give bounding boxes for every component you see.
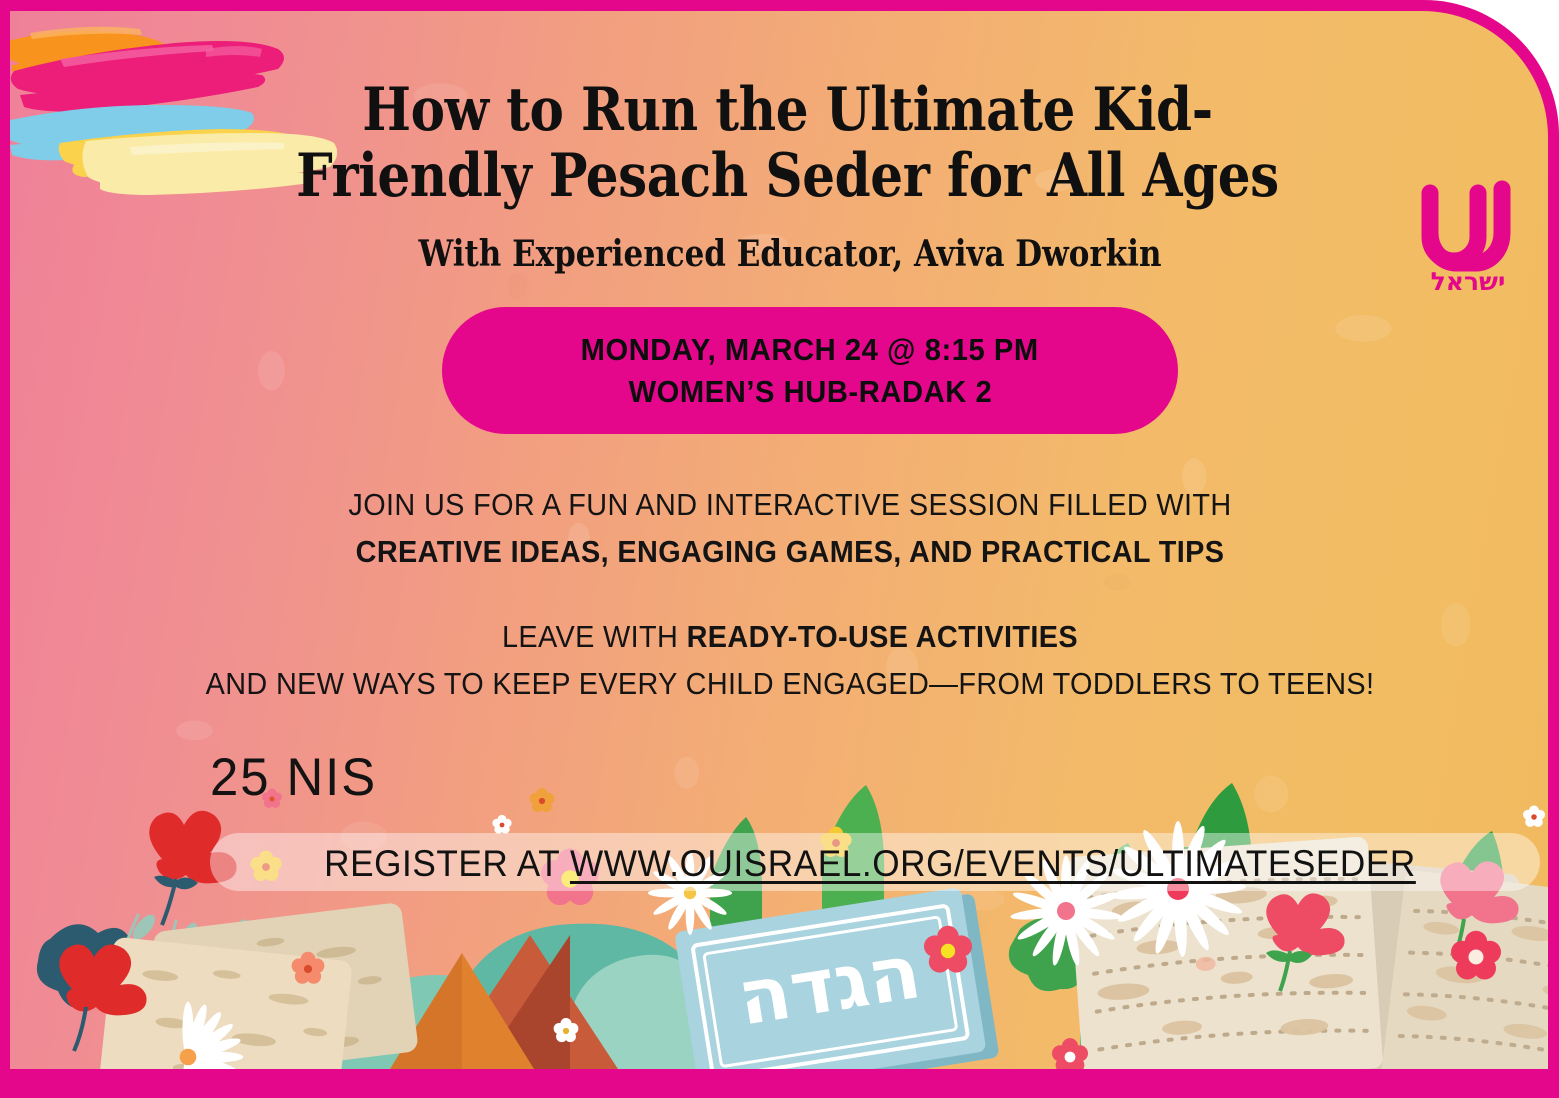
body-line-3: LEAVE WITH READY-TO-USE ACTIVITIES: [102, 613, 1478, 660]
register-url[interactable]: WWW.OUISRAEL.ORG/EVENTS/ULTIMATESEDER: [570, 843, 1416, 884]
body-spacer: [50, 575, 1530, 613]
flyer-body-copy: JOIN US FOR A FUN AND INTERACTIVE SESSIO…: [50, 481, 1530, 707]
body-line-2: CREATIVE IDEAS, ENGAGING GAMES, AND PRAC…: [102, 528, 1478, 575]
body-line-4: AND NEW WAYS TO KEEP EVERY CHILD ENGAGED…: [102, 660, 1478, 707]
body-line-3-emphasis: READY-TO-USE ACTIVITIES: [687, 619, 1078, 654]
flyer-headline: How to Run the Ultimate Kid-Friendly Pes…: [265, 77, 1310, 209]
ou-monogram-icon: [1430, 189, 1502, 263]
register-line[interactable]: REGISTER AT WWW.OUISRAEL.ORG/EVENTS/ULTI…: [243, 842, 1497, 886]
flyer-subheadline: With Experienced Educator, Aviva Dworkin: [291, 233, 1289, 275]
flyer-magenta-frame: How to Run the Ultimate Kid-Friendly Pes…: [0, 0, 1559, 1098]
event-flyer: How to Run the Ultimate Kid-Friendly Pes…: [0, 0, 1559, 1098]
body-line-1: JOIN US FOR A FUN AND INTERACTIVE SESSIO…: [102, 481, 1478, 528]
register-prefix: REGISTER AT: [324, 843, 570, 884]
event-location: WOMEN’S HUB-RADAK 2: [628, 374, 992, 410]
event-details-badge: MONDAY, MARCH 24 @ 8:15 PM WOMEN’S HUB-R…: [442, 307, 1178, 434]
logo-hebrew-text: ישראל: [1431, 267, 1506, 296]
body-line-3-prefix: LEAVE WITH: [502, 619, 687, 654]
flyer-artboard: How to Run the Ultimate Kid-Friendly Pes…: [10, 11, 1548, 1069]
ou-israel-logo: ישראל: [1398, 171, 1538, 296]
ticket-price: 25 NIS: [210, 749, 377, 807]
event-date-time: MONDAY, MARCH 24 @ 8:15 PM: [581, 332, 1039, 368]
